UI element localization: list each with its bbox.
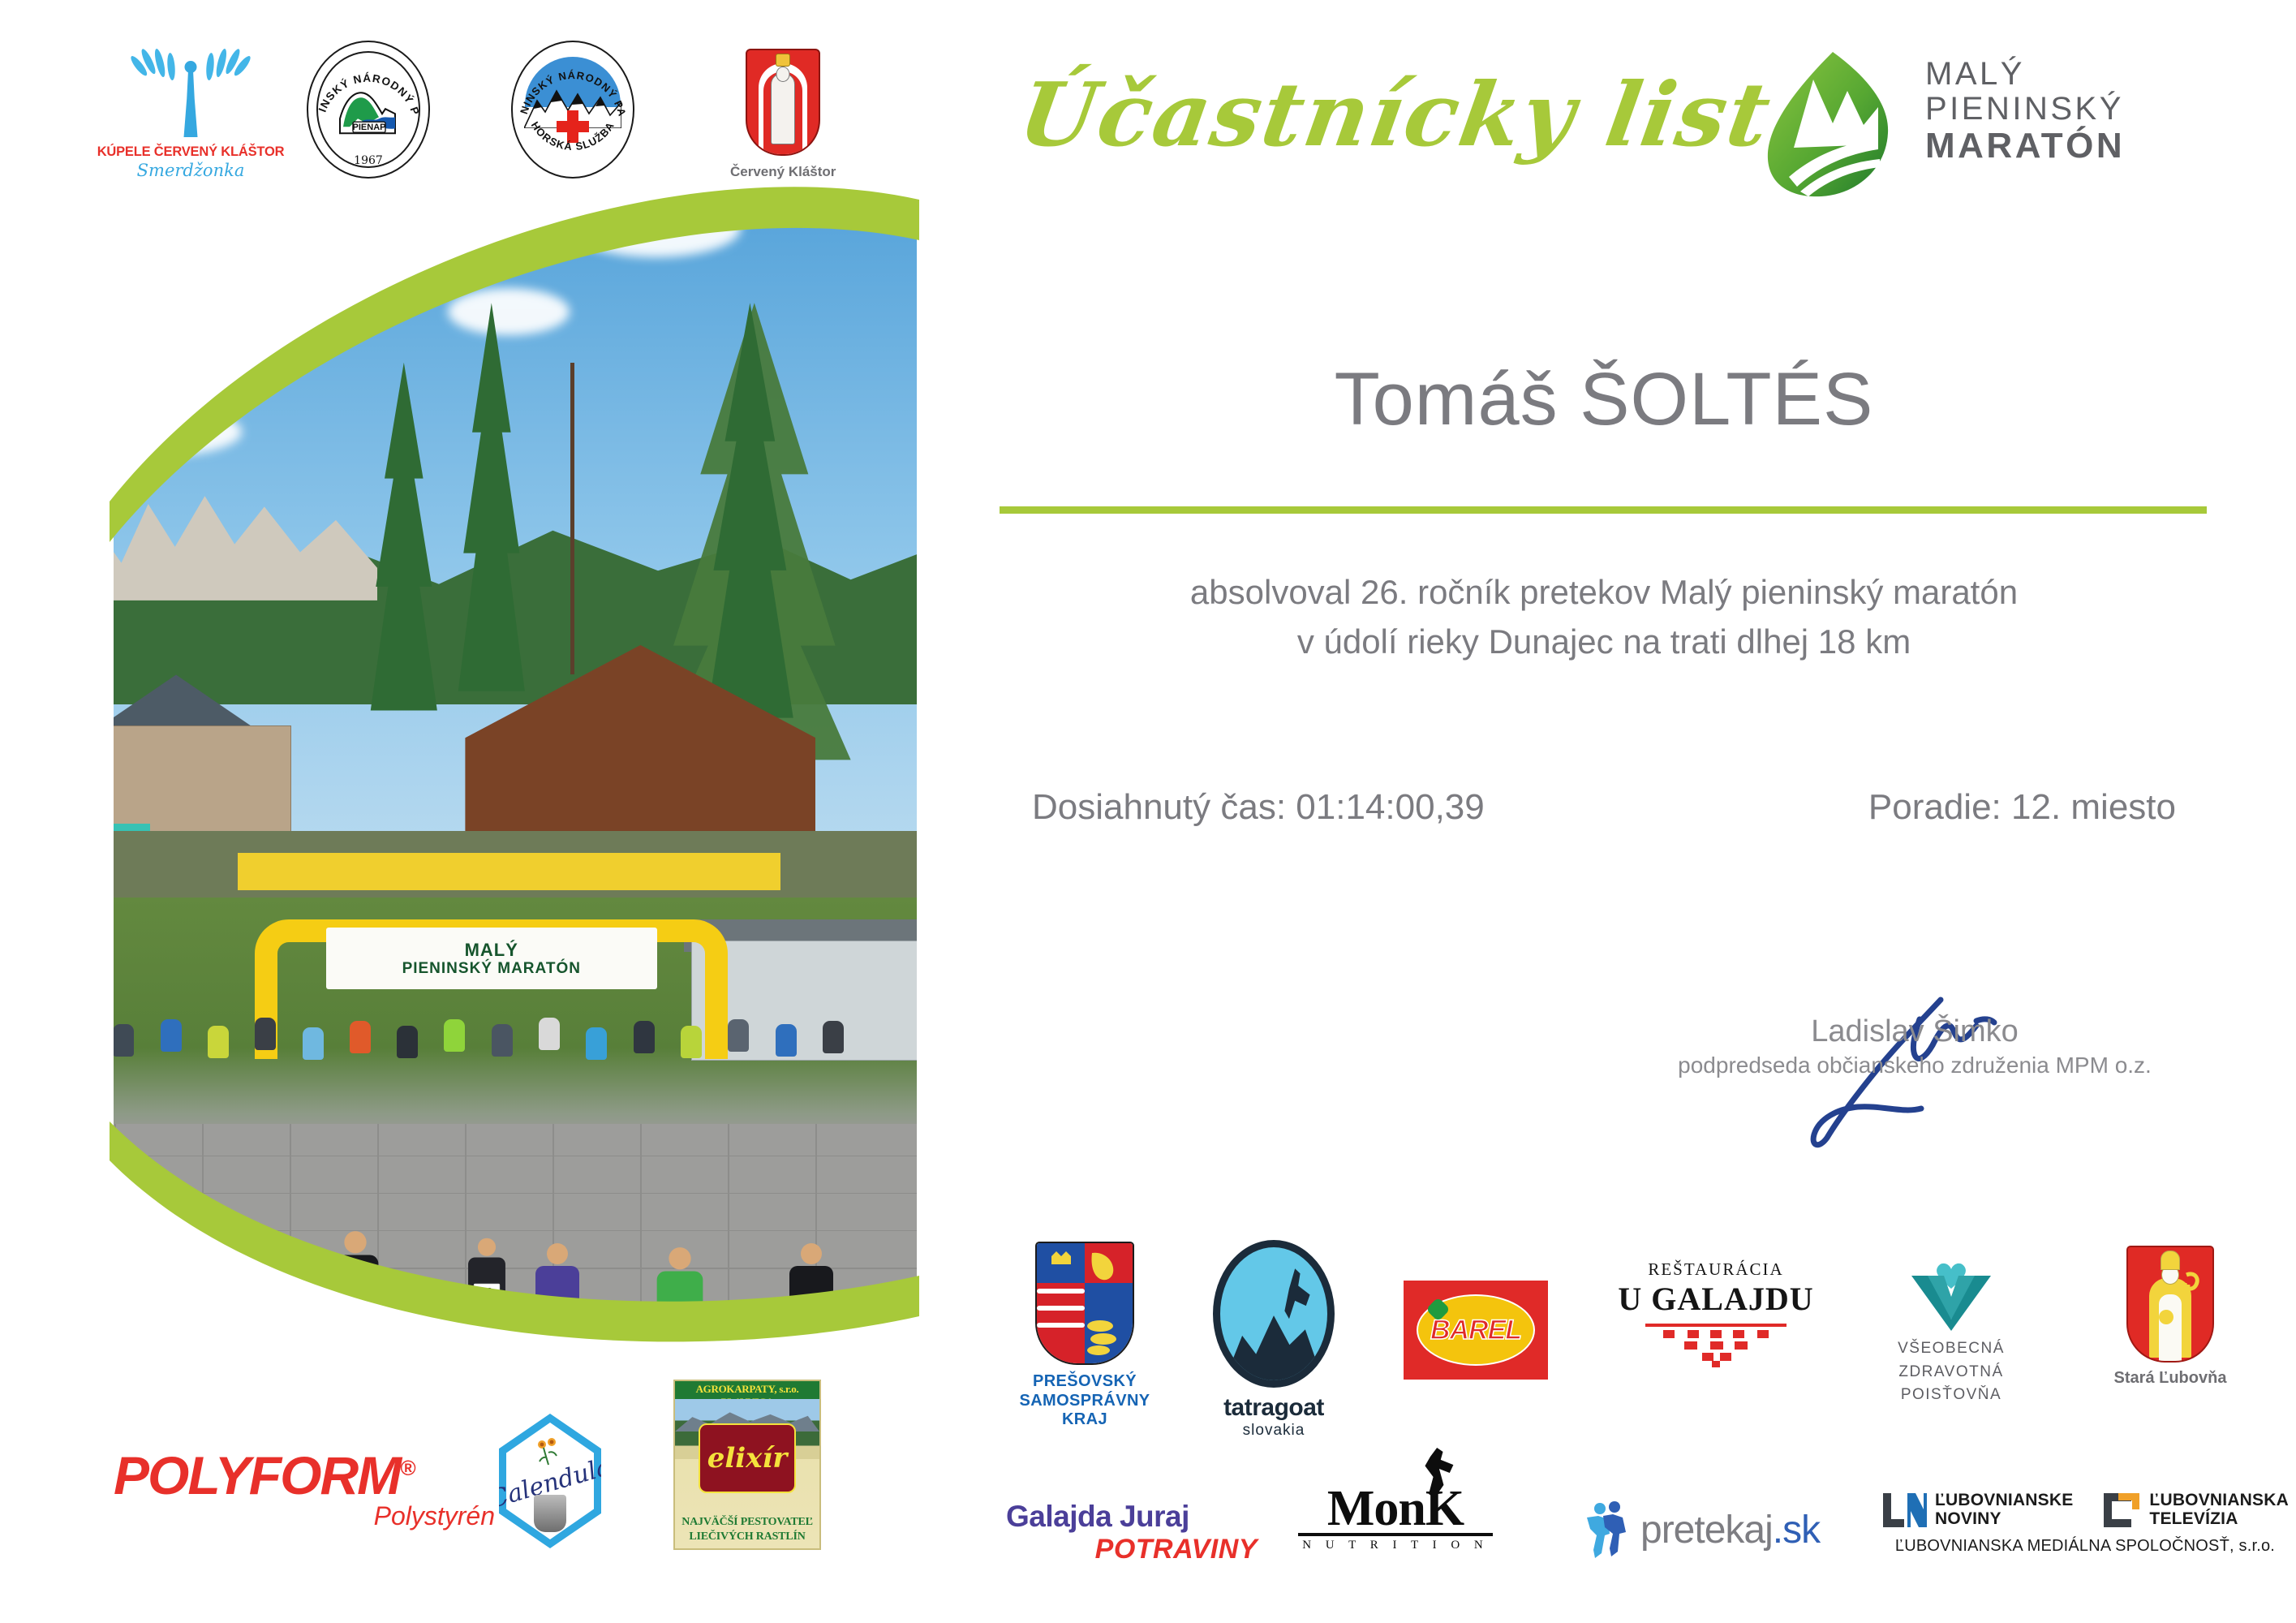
sponsor-label-line1: ĽUBOVNIANSKE xyxy=(1935,1492,2073,1510)
certificate-description: absolvoval 26. ročník pretekov Malý pien… xyxy=(1000,568,2208,667)
sponsor-name: pretekaj xyxy=(1640,1509,1773,1552)
sponsor-pretekaj-sk: pretekaj.sk xyxy=(1582,1500,1820,1560)
sponsor-label-line2: NOVINY xyxy=(1935,1510,2073,1529)
vzp-v-heart-icon xyxy=(1907,1256,1996,1331)
svg-text:HORSKÁ SLUŽBA: HORSKÁ SLUŽBA xyxy=(529,119,617,153)
sponsor-polyform: POLYFORM® Polystyrén xyxy=(114,1444,495,1531)
sponsor-agrokarpaty-elixir: AGROKARPATY, s.r.o. PLAVNICA elixír NAJV… xyxy=(673,1380,821,1550)
placement-label: Poradie: xyxy=(1868,787,2001,827)
sponsor-label-line2: ZDRAVOTNÁ xyxy=(1874,1361,2028,1384)
sponsor-galajda-juraj: Galajda Juraj POTRAVINY xyxy=(1006,1500,1258,1565)
arch-line-1: MALÝ xyxy=(465,940,518,960)
certificate-page: KÚPELE ČERVENÝ KLÁŠTOR Smerdžonka PIENIN… xyxy=(0,0,2296,1623)
sponsor-sub: N U T R I T I O N xyxy=(1298,1539,1493,1552)
sponsor-label-line2: POTRAVINY xyxy=(1006,1534,1258,1565)
sponsor-stara-lubovna: Stará Ľubovňa xyxy=(2093,1246,2247,1388)
leaf-mountain-icon xyxy=(1765,49,1907,199)
amphitheatre-photo xyxy=(45,154,921,898)
sponsor-label-line2: LIEČIVÝCH RASTLÍN xyxy=(675,1530,819,1544)
race-start-photo: MALÝ PIENINSKÝ MARATÓN xyxy=(45,898,921,1436)
runners-icon xyxy=(1582,1500,1629,1560)
sponsor-label-line2: SAMOSPRÁVNY xyxy=(1019,1392,1150,1411)
sponsor-barel: BAREL xyxy=(1404,1281,1548,1380)
sponsor-vseobecna-zdravotna-poistovna: VŠEOBECNÁ ZDRAVOTNÁ POISŤOVŇA xyxy=(1874,1256,2028,1407)
runner-bib: 249 xyxy=(337,1290,374,1311)
mortar-and-pestle-icon xyxy=(534,1495,566,1532)
runner-bib: 92 xyxy=(474,1284,500,1299)
sponsor-name: elixír xyxy=(707,1442,788,1474)
sponsor-name: MonK xyxy=(1298,1485,1493,1536)
registered-mark-icon: ® xyxy=(400,1456,414,1480)
coat-of-arms-icon xyxy=(746,49,820,156)
sponsor-monk-nutrition: MonK N U T R I T I O N xyxy=(1298,1485,1493,1552)
finish-time-value: 01:14:00,39 xyxy=(1296,787,1484,827)
sponsor-label: Stará Ľubovňa xyxy=(2114,1369,2227,1388)
sponsor-name: POLYFORM xyxy=(114,1445,400,1505)
runner-figure: 92 xyxy=(468,1238,505,1361)
finish-time: Dosiahnutý čas: 01:14:00,39 xyxy=(1032,787,1485,828)
recipient-name: Tomáš ŠOLTÉS xyxy=(1000,357,2208,442)
sponsor-lubovnianske-noviny: ĽUBOVNIANSKE NOVINY xyxy=(1881,1492,2073,1529)
photo-panel: MALÝ PIENINSKÝ MARATÓN xyxy=(45,154,921,1436)
title-divider xyxy=(1000,506,2207,514)
sponsor-lubovnianska-televizia: ĽUBOVNIANSKA TELEVÍZIA xyxy=(2100,1492,2289,1529)
pienap-mountain-water-icon: PIENAP xyxy=(337,86,400,135)
placement: Poradie: 12. miesto xyxy=(1868,787,2176,828)
stara-lubovna-coat-of-arms-icon xyxy=(2126,1246,2214,1363)
placement-value: 12. miesto xyxy=(2011,787,2176,827)
psk-coat-of-arms-icon xyxy=(1035,1242,1134,1365)
event-brandmark: MALÝ PIENINSKÝ MARATÓN xyxy=(1765,49,2284,203)
sponsor-name: U GALAJDU xyxy=(1610,1280,1821,1318)
sponsor-tld: .sk xyxy=(1773,1509,1820,1552)
signature-block: Ladislav Šimko podpredseda občianskeho z… xyxy=(1655,1014,2174,1078)
media-company-footer: ĽUBOVNIANSKA MEDIÁLNA SPOLOČNOSŤ, s.r.o. xyxy=(1882,1537,2288,1556)
sponsor-name: tatragoat xyxy=(1223,1394,1324,1422)
sponsor-label-line1: Galajda Juraj xyxy=(1006,1500,1258,1534)
finish-time-label: Dosiahnutý čas: xyxy=(1032,787,1286,827)
runner-figure: 31 xyxy=(657,1247,703,1399)
results-row: Dosiahnutý čas: 01:14:00,39 Poradie: 12.… xyxy=(1000,787,2208,828)
description-line-1: absolvoval 26. ročník pretekov Malý pien… xyxy=(1000,568,2208,618)
spa-figure-icon xyxy=(138,45,243,142)
runner-figure: 234 xyxy=(789,1243,833,1388)
sponsor-presovsky-samospravny-kraj: PREŠOVSKÝ SAMOSPRÁVNY KRAJ xyxy=(1000,1242,1170,1430)
runner-bib: 209 xyxy=(112,1319,161,1348)
folk-ornament-icon xyxy=(1639,1322,1793,1367)
runner-figure: 147 xyxy=(535,1243,579,1388)
signatory-role: podpredseda občianskeho združenia MPM o.… xyxy=(1655,1053,2174,1078)
page-title: Účastnícky list xyxy=(1013,71,1806,159)
sponsor-label-line3: POISŤOVŇA xyxy=(1874,1384,2028,1407)
media-partner-group: ĽUBOVNIANSKE NOVINY ĽUBOVNIANSKA TELEVÍZ… xyxy=(1882,1492,2288,1556)
runner-figure: 74 xyxy=(255,1249,299,1393)
calendula-hex-icon: Calendula xyxy=(499,1414,601,1548)
clover-icon xyxy=(1428,1299,1449,1320)
sponsor-label-line1: PREŠOVSKÝ xyxy=(1019,1372,1150,1392)
sponsor-label-line1: VŠEOBECNÁ xyxy=(1874,1337,2028,1361)
sponsor-u-galajdu: REŠTAURÁCIA U GALAJDU xyxy=(1610,1259,1821,1367)
ln-monogram-icon xyxy=(1881,1492,1928,1529)
runner-figure: 209 xyxy=(110,1234,165,1415)
barel-logo-icon: BAREL xyxy=(1404,1281,1548,1380)
runner-bib: 74 xyxy=(260,1306,294,1326)
sponsor-label-line1: NAJVÄČŠÍ PESTOVATEĽ xyxy=(675,1515,819,1530)
runner-bib: 31 xyxy=(663,1308,697,1329)
sponsor-sub: slovakia xyxy=(1243,1422,1305,1440)
svg-text:PIENINSKÝ NÁRODNÝ PARK: PIENINSKÝ NÁRODNÝ PARK xyxy=(511,41,629,118)
sponsor-calendula: Calendula xyxy=(499,1414,601,1548)
agrokarpaty-label-icon: AGROKARPATY, s.r.o. PLAVNICA elixír NAJV… xyxy=(673,1380,821,1550)
svg-text:PIENAP: PIENAP xyxy=(353,123,386,132)
sponsor-tatragoat: tatragoat slovakia xyxy=(1193,1240,1355,1440)
runner-figure: 249 xyxy=(333,1231,379,1383)
marigold-flower-icon xyxy=(535,1438,565,1466)
brand-line-1: MALÝ xyxy=(1925,57,2282,92)
tatragoat-icon xyxy=(1213,1240,1335,1388)
lt-monogram-icon xyxy=(2100,1492,2143,1529)
runner-bib: 234 xyxy=(793,1300,829,1320)
brand-line-3: MARATÓN xyxy=(1925,127,2282,166)
signatory-name: Ladislav Šimko xyxy=(1655,1014,2174,1049)
runner-bib: 147 xyxy=(540,1300,575,1320)
sponsor-label-line2: TELEVÍZIA xyxy=(2149,1510,2289,1529)
description-line-2: v údolí rieky Dunajec na trati dlhej 18 … xyxy=(1000,618,2208,667)
sponsor-label-line3: KRAJ xyxy=(1019,1410,1150,1430)
sponsor-label-line1: ĽUBOVNIANSKA xyxy=(2149,1492,2289,1510)
arch-line-2: PIENINSKÝ MARATÓN xyxy=(402,960,581,978)
brand-line-2: PIENINSKÝ xyxy=(1925,92,2282,127)
sponsor-label-top: REŠTAURÁCIA xyxy=(1610,1259,1821,1280)
